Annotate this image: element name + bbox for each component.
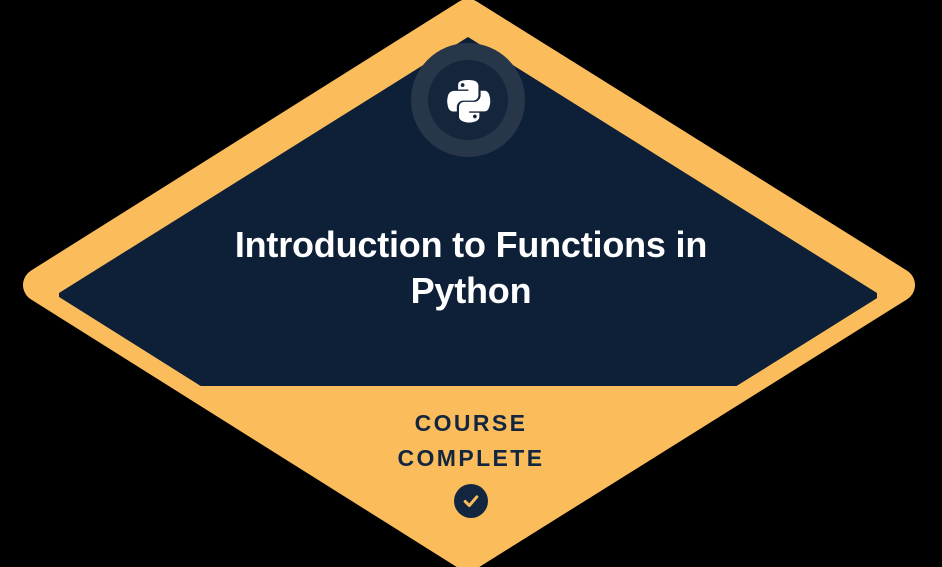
python-logo-icon xyxy=(445,77,492,124)
completion-status: COURSE COMPLETE xyxy=(171,406,771,518)
python-emblem xyxy=(411,43,525,157)
course-title: Introduction to Functions in Python xyxy=(171,222,771,314)
check-icon xyxy=(461,491,481,511)
status-line-complete: COMPLETE xyxy=(171,441,771,476)
course-completion-badge: Introduction to Functions in Python COUR… xyxy=(0,0,942,567)
status-line-course: COURSE xyxy=(171,406,771,441)
completion-check-badge xyxy=(454,484,488,518)
python-emblem-inner xyxy=(428,60,508,140)
